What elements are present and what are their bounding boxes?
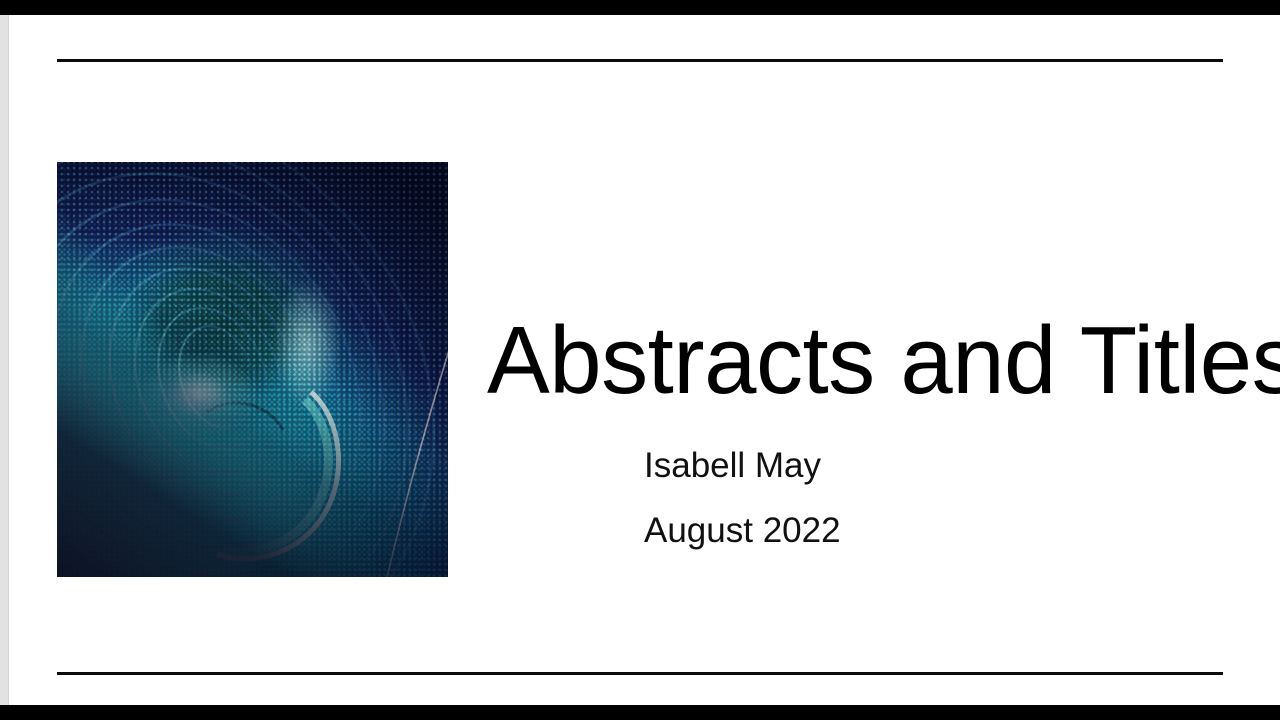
presentation-stage: Abstracts and Titles Isabell May August … <box>0 0 1280 720</box>
slide-author: Isabell May <box>644 448 1264 483</box>
letterbox-bar-top <box>0 0 1280 15</box>
letterbox-bar-bottom <box>0 705 1280 720</box>
slide-canvas: Abstracts and Titles Isabell May August … <box>0 15 1280 705</box>
slide-date: August 2022 <box>644 513 1264 548</box>
image-vignette <box>57 162 448 577</box>
slide-title: Abstracts and Titles <box>487 311 1242 412</box>
slide-left-gutter <box>0 15 9 705</box>
top-divider-rule <box>57 59 1223 62</box>
bottom-divider-rule <box>57 672 1223 675</box>
title-slide-image <box>57 162 448 577</box>
